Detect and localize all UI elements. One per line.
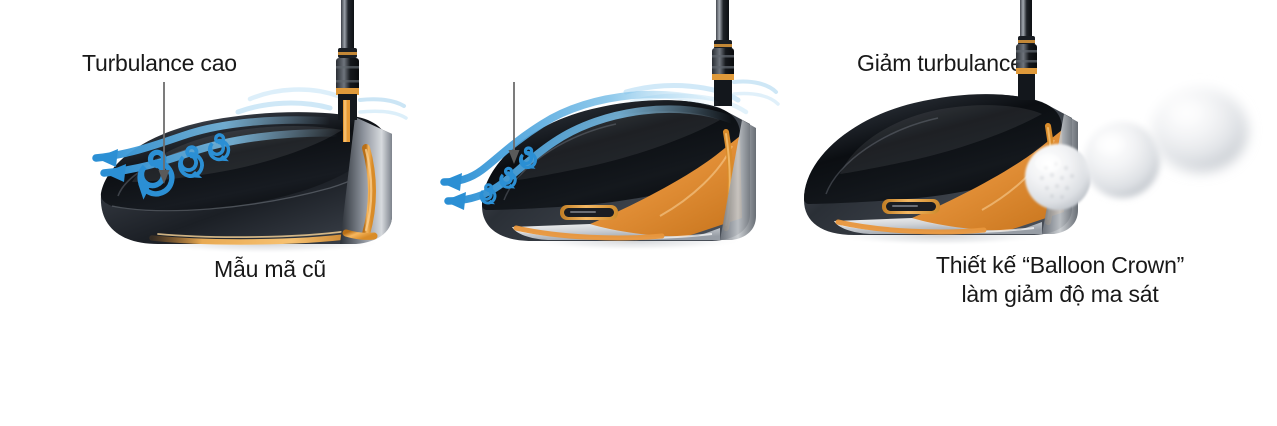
figure-canvas: Turbulance cao Mẫu mã cũ bbox=[0, 0, 1277, 426]
caption-old-model: Mẫu mã cũ bbox=[120, 255, 420, 284]
new-callout-leader bbox=[509, 82, 520, 164]
panel-swing-speed: ⇨TĂNG TỐC ĐỘ SWING bbox=[790, 0, 1277, 426]
panel-balloon-crown: Giảm turbulance Thiết kế “Balloon Crown”… bbox=[420, 0, 790, 426]
new-hosel-wisps bbox=[734, 81, 778, 104]
golf-ball-3 bbox=[1152, 88, 1248, 172]
panel-old-model: Turbulance cao Mẫu mã cũ bbox=[0, 0, 420, 426]
new-shaft-and-hosel bbox=[712, 0, 734, 106]
golf-ball-trail bbox=[1025, 88, 1248, 210]
callout-label-old: Turbulance cao bbox=[82, 50, 237, 77]
golf-ball-1 bbox=[1025, 144, 1091, 210]
old-hosel-wisps bbox=[360, 99, 406, 118]
result-driver-illustration bbox=[790, 0, 1277, 426]
result-shaft-and-hosel bbox=[1016, 0, 1037, 100]
new-driver-illustration bbox=[420, 0, 790, 426]
golf-ball-2 bbox=[1084, 122, 1160, 198]
old-flow-streamlines bbox=[238, 90, 338, 112]
result-sole-badge bbox=[882, 199, 940, 214]
new-sole-badge bbox=[560, 205, 618, 220]
